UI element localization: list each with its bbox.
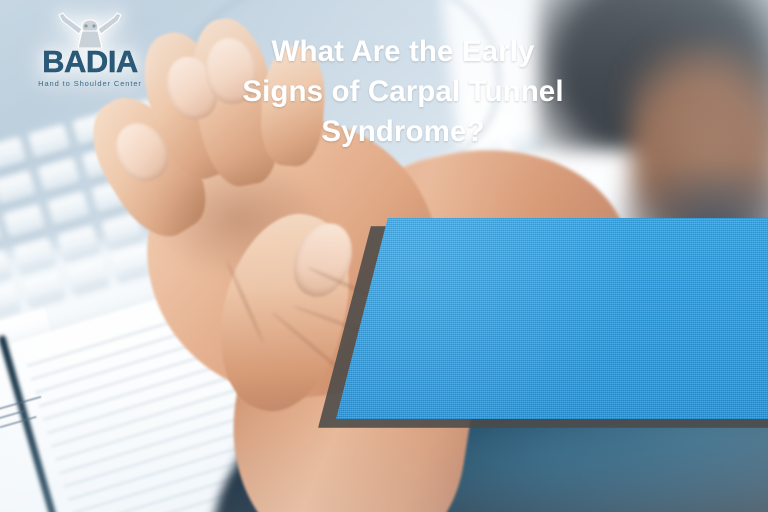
banner-title-line: What Are the Early: [60, 32, 746, 72]
banner-grain-texture: [336, 218, 768, 419]
banner-blue-panel: [336, 218, 768, 419]
banner-title-line: Syndrome?: [60, 112, 746, 152]
banner-title: What Are the Early Signs of Carpal Tunne…: [60, 32, 746, 152]
banner-title-line: Signs of Carpal Tunnel: [60, 72, 746, 112]
hero-image-canvas: BADIA Hand to Shoulder Center What Are t…: [0, 0, 768, 512]
